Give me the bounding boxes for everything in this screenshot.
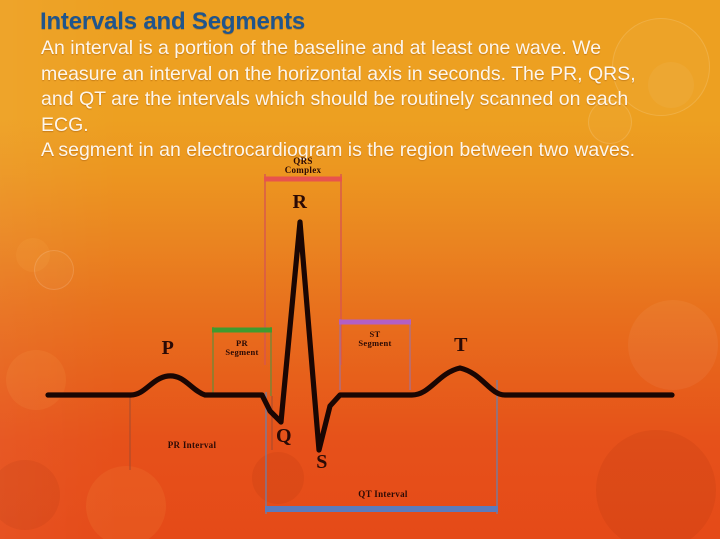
r-wave-label: R xyxy=(293,192,308,213)
qt-interval-label: QT Interval xyxy=(358,490,407,499)
t-wave-label: T xyxy=(454,335,468,356)
p-wave-label: P xyxy=(162,338,175,359)
pr-segment-label-line2: Segment xyxy=(225,347,258,357)
slide-canvas: Intervals and Segments An interval is a … xyxy=(0,0,720,539)
pr-interval-span xyxy=(130,396,272,470)
pr-segment-label: PR Segment xyxy=(225,339,258,357)
pr-interval-label: PR Interval xyxy=(168,441,217,450)
qrs-complex-label-line2: Complex xyxy=(285,165,322,175)
st-segment-label-line2: Segment xyxy=(358,338,391,348)
body-text: An interval is a portion of the baseline… xyxy=(41,36,641,164)
q-wave-label: Q xyxy=(276,426,292,447)
decorative-bubble xyxy=(648,62,694,108)
page-title: Intervals and Segments xyxy=(40,8,305,36)
s-wave-label: S xyxy=(316,452,328,473)
ecg-waveform-diagram: P Q R S T QRS Complex PR Segment ST Segm… xyxy=(0,150,720,539)
body-paragraph-1: An interval is a portion of the baseline… xyxy=(41,36,641,138)
qrs-complex-label: QRS Complex xyxy=(285,157,322,176)
st-segment-label: ST Segment xyxy=(358,330,391,348)
